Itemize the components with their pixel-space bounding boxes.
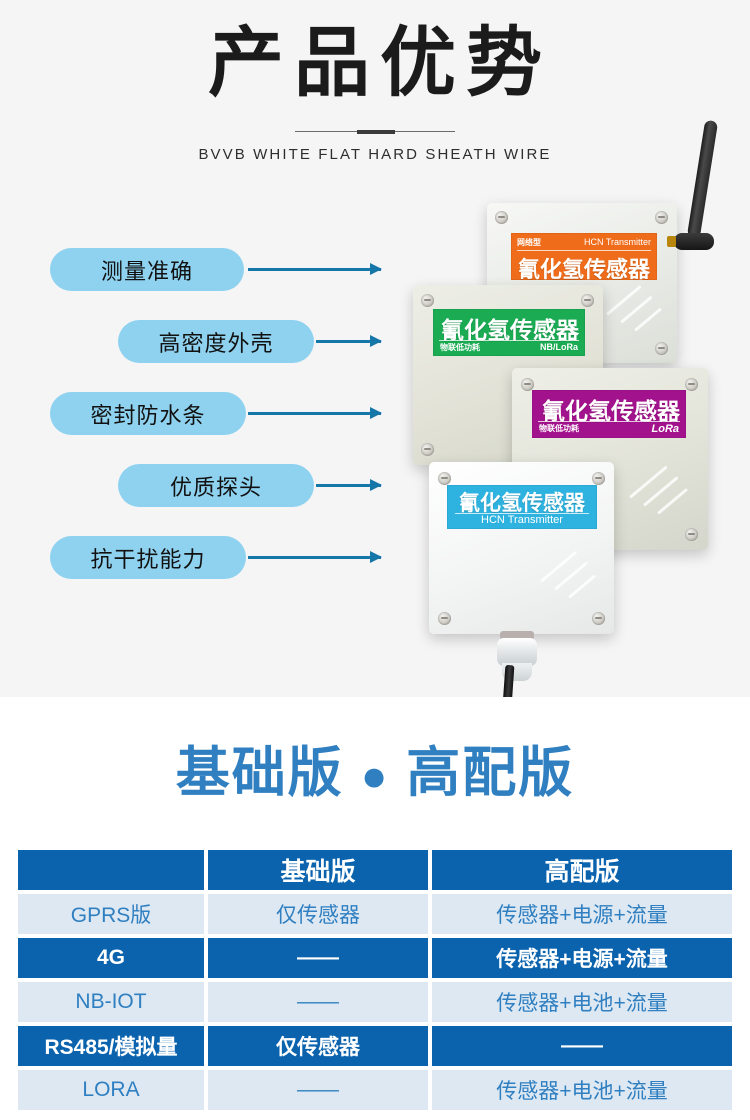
screw	[438, 472, 451, 485]
label-bottom-right: HCN Transmitter	[447, 514, 597, 526]
row-basic: 仅传感器	[208, 1026, 428, 1066]
arrow-head	[370, 551, 382, 563]
row-name: LORA	[18, 1070, 204, 1110]
screw	[655, 342, 668, 355]
label-top-right: HCN Transmitter	[584, 237, 651, 247]
feature-label: 测量准确	[101, 254, 193, 286]
vent-line	[540, 551, 577, 583]
label-rule	[517, 250, 651, 251]
hero-section: 产品优势 BVVB WHITE FLAT HARD SHEATH WIRE 网络…	[0, 0, 750, 697]
label-top-left: 网络型	[517, 237, 541, 248]
feature-arrow-2	[316, 335, 381, 347]
row-advanced: 传感器+电源+流量	[432, 938, 732, 978]
page-subtitle: BVVB WHITE FLAT HARD SHEATH WIRE	[0, 146, 750, 163]
row-name: 4G	[18, 938, 204, 978]
screw	[685, 378, 698, 391]
feature-label: 高密度外壳	[158, 326, 273, 358]
antenna-rod	[687, 120, 718, 239]
table-row: RS485/模拟量 仅传感器 ——	[18, 1026, 732, 1066]
screw	[685, 528, 698, 541]
arrow-head	[370, 263, 382, 275]
feature-arrow-1	[248, 263, 381, 275]
device-cyan-hcn-sensor: 氰化氢传感器 HCN Transmitter	[429, 462, 614, 634]
table-row: 4G —— 传感器+电源+流量	[18, 938, 732, 978]
row-advanced: 传感器+电池+流量	[432, 1070, 732, 1110]
antenna	[672, 120, 750, 280]
title-divider	[295, 130, 455, 133]
row-name: GPRS版	[18, 894, 204, 934]
feature-arrow-5	[248, 551, 381, 563]
divider-center-bar	[357, 130, 395, 134]
table-row: GPRS版 仅传感器 传感器+电源+流量	[18, 894, 732, 934]
section-title-left: 基础版	[176, 743, 344, 803]
label-title: 氰化氢传感器	[518, 252, 650, 280]
device-label-purple: 氰化氢传感器 物联低功耗 LoRa	[532, 390, 686, 438]
screw	[438, 612, 451, 625]
arrow-head	[370, 407, 382, 419]
antenna-connector	[667, 236, 676, 247]
label-bottom-left: 物联低功耗	[539, 423, 579, 434]
vent-line	[629, 465, 668, 498]
screw	[495, 211, 508, 224]
section-title-dot: ●	[361, 752, 390, 801]
feature-bubble-3[interactable]: 密封防水条	[50, 392, 246, 435]
screw	[655, 211, 668, 224]
feature-label: 优质探头	[170, 470, 262, 502]
row-name: NB-IOT	[18, 982, 204, 1022]
device-label-green: 氰化氢传感器 物联低功耗 NB/LoRa	[433, 309, 585, 356]
table-header-row: 基础版 高配版	[18, 850, 732, 890]
feature-label: 密封防水条	[90, 398, 205, 430]
section-title: 基础版 ● 高配版	[0, 728, 750, 807]
antenna-base	[674, 233, 714, 250]
screw	[592, 472, 605, 485]
label-rule	[538, 421, 680, 422]
arrow-shaft	[248, 268, 381, 271]
feature-label: 抗干扰能力	[90, 542, 205, 574]
table-row: LORA —— 传感器+电池+流量	[18, 1070, 732, 1110]
feature-bubble-2[interactable]: 高密度外壳	[118, 320, 314, 363]
device-label-orange: 网络型 HCN Transmitter 氰化氢传感器	[511, 233, 657, 280]
feature-arrow-3	[248, 407, 381, 419]
table-row: NB-IOT —— 传感器+电池+流量	[18, 982, 732, 1022]
table-header-blank	[18, 850, 204, 890]
row-advanced: ——	[432, 1026, 732, 1066]
screw	[581, 294, 594, 307]
table-header-basic: 基础版	[208, 850, 428, 890]
row-advanced: 传感器+电源+流量	[432, 894, 732, 934]
row-name: RS485/模拟量	[18, 1026, 204, 1066]
feature-bubble-4[interactable]: 优质探头	[118, 464, 314, 507]
vent-line	[568, 574, 596, 598]
arrow-head	[370, 479, 382, 491]
label-bottom-right: LoRa	[652, 423, 680, 435]
row-basic: ——	[208, 982, 428, 1022]
row-basic: 仅传感器	[208, 894, 428, 934]
section-title-right: 高配版	[406, 743, 574, 803]
label-rule	[439, 340, 579, 341]
label-bottom-right: NB/LoRa	[540, 342, 578, 352]
device-label-cyan: 氰化氢传感器 HCN Transmitter	[447, 485, 597, 529]
arrow-shaft	[248, 556, 381, 559]
comparison-table: 基础版 高配版 GPRS版 仅传感器 传感器+电源+流量 4G —— 传感器+电…	[18, 850, 732, 1114]
feature-arrow-4	[316, 479, 381, 491]
table-header-advanced: 高配版	[432, 850, 732, 890]
screw	[592, 612, 605, 625]
arrow-shaft	[248, 412, 381, 415]
row-advanced: 传感器+电池+流量	[432, 982, 732, 1022]
row-basic: ——	[208, 1070, 428, 1110]
screw	[421, 294, 434, 307]
vent-line	[634, 307, 662, 331]
label-bottom-left: 物联低功耗	[440, 342, 480, 353]
row-basic: ——	[208, 938, 428, 978]
feature-bubble-1[interactable]: 测量准确	[50, 248, 244, 291]
arrow-head	[370, 335, 382, 347]
gland-body	[497, 638, 537, 666]
feature-bubble-5[interactable]: 抗干扰能力	[50, 536, 246, 579]
page-title: 产品优势	[0, 22, 750, 106]
screw	[421, 443, 434, 456]
